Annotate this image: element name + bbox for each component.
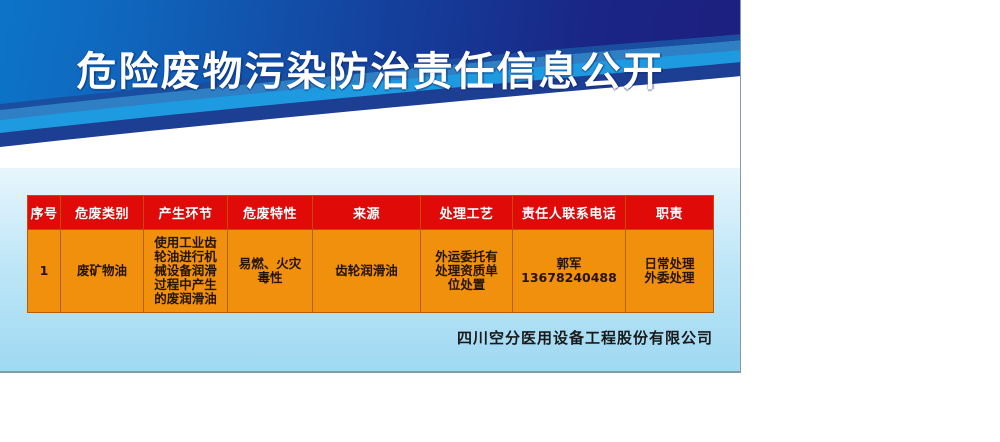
cell-duty: 日常处理 外委处理 [626, 230, 714, 313]
duty-line: 外委处理 [629, 271, 710, 285]
column-header-duty: 职责 [626, 196, 714, 230]
hazard-line: 易燃、火灾 [231, 257, 309, 271]
hazard-line: 毒性 [231, 271, 309, 285]
generation-line: 使用工业齿 [147, 236, 224, 250]
cell-generation: 使用工业齿 轮油进行机 械设备润滑 过程中产生 的废润滑油 [144, 230, 228, 313]
cell-category: 废矿物油 [61, 230, 144, 313]
column-header-contact: 责任人联系电话 [513, 196, 626, 230]
generation-line: 械设备润滑 [147, 264, 224, 278]
generation-line: 轮油进行机 [147, 250, 224, 264]
company-name: 四川空分医用设备工程股份有限公司 [0, 327, 713, 348]
poster-banner: 危险废物污染防治责任信息公开 [0, 0, 741, 168]
table-row: 1 废矿物油 使用工业齿 轮油进行机 械设备润滑 过程中产生 的废润滑油 易燃、… [28, 230, 714, 313]
generation-line: 的废润滑油 [147, 292, 224, 306]
process-line: 位处置 [424, 278, 509, 292]
cell-hazard: 易燃、火灾 毒性 [228, 230, 313, 313]
table-header-row: 序号 危废类别 产生环节 危废特性 来源 处理工艺 责任人联系电话 职责 [28, 196, 714, 230]
cell-index: 1 [28, 230, 61, 313]
column-header-category: 危废类别 [61, 196, 144, 230]
column-header-index: 序号 [28, 196, 61, 230]
hazardous-waste-table: 序号 危废类别 产生环节 危废特性 来源 处理工艺 责任人联系电话 职责 1 废… [27, 195, 714, 313]
information-disclosure-poster: 危险废物污染防治责任信息公开 序号 危废类别 产生环节 危废特性 来源 处理工艺 [0, 0, 741, 373]
column-header-generation: 产生环节 [144, 196, 228, 230]
duty-line: 日常处理 [629, 257, 710, 271]
process-line: 外运委托有 [424, 250, 509, 264]
screenshot-canvas: 危险废物污染防治责任信息公开 序号 危废类别 产生环节 危废特性 来源 处理工艺 [0, 0, 1000, 442]
cell-source: 齿轮润滑油 [313, 230, 421, 313]
hazardous-waste-table-container: 序号 危废类别 产生环节 危废特性 来源 处理工艺 责任人联系电话 职责 1 废… [27, 195, 713, 313]
column-header-process: 处理工艺 [421, 196, 513, 230]
cell-contact: 郭军 13678240488 [513, 230, 626, 313]
contact-name: 郭军 [516, 257, 622, 271]
contact-phone: 13678240488 [516, 271, 622, 285]
cell-process: 外运委托有 处理资质单 位处置 [421, 230, 513, 313]
page-title: 危险废物污染防治责任信息公开 [0, 46, 741, 98]
generation-line: 过程中产生 [147, 278, 224, 292]
process-line: 处理资质单 [424, 264, 509, 278]
column-header-hazard: 危废特性 [228, 196, 313, 230]
column-header-source: 来源 [313, 196, 421, 230]
